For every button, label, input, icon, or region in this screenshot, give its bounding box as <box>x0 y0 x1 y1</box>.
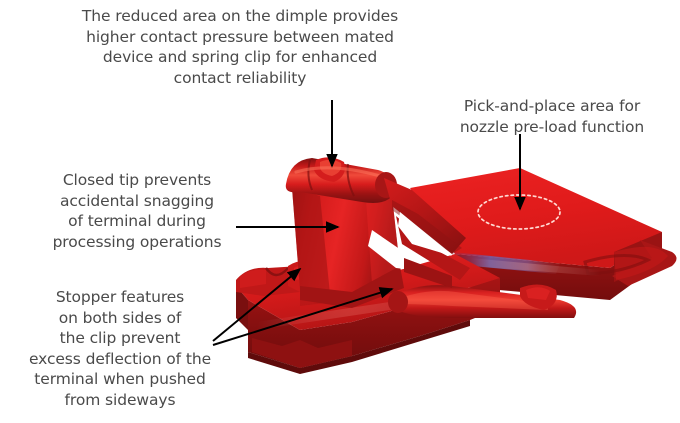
callout-closed-tip-text: Closed tip prevents accidental snagging … <box>26 170 248 252</box>
callout-stopper-text: Stopper features on both sides of the cl… <box>8 287 232 411</box>
callout-pick-and-place-text: Pick-and-place area for nozzle pre-load … <box>432 96 672 137</box>
clip-body <box>236 157 677 374</box>
hinge-boss-hi <box>526 287 550 300</box>
figure-canvas: The reduced area on the dimple provides … <box>0 0 680 423</box>
callout-dimple-text: The reduced area on the dimple provides … <box>34 6 446 88</box>
hinge-tube-cap <box>388 291 408 313</box>
